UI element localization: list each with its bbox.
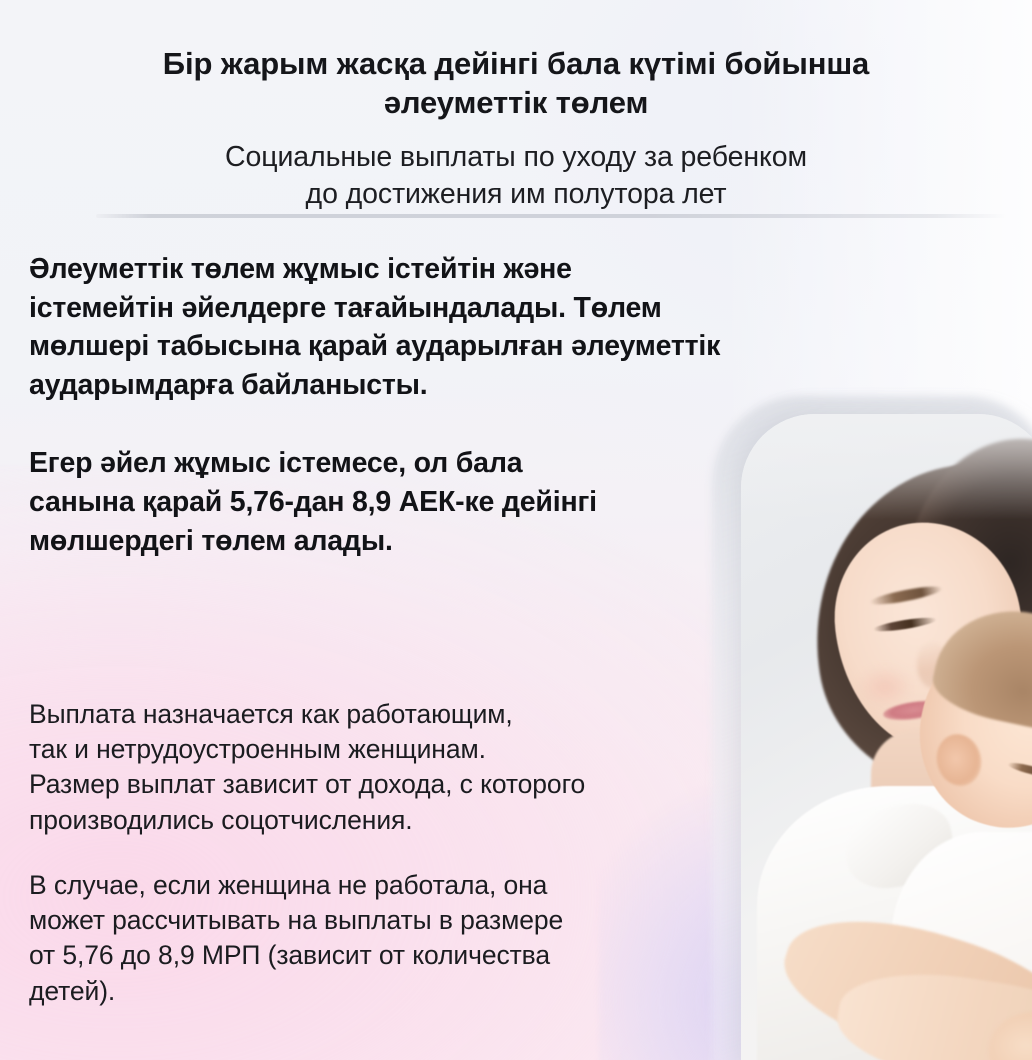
kk-p2-line-2: санына қарай 5,76-дан 8,9 АЕК-ке дейінгі <box>29 483 909 522</box>
ru-p1-line-3: Размер выплат зависит от дохода, с котор… <box>29 767 749 802</box>
page-title-ru-line-2: до достижения им полутора лет <box>96 176 936 213</box>
body-text-kk: Әлеуметтік төлем жұмыс істейтін және іст… <box>29 250 909 560</box>
page-title-kk: Бір жарым жасқа дейінгі бала күтімі бойы… <box>96 44 936 123</box>
page-title-kk-line-1: Бір жарым жасқа дейінгі бала күтімі бойы… <box>96 44 936 83</box>
kk-paragraph-2: Егер әйел жұмыс істемесе, ол бала санына… <box>29 444 909 560</box>
kk-p1-line-1: Әлеуметтік төлем жұмыс істейтін және <box>29 250 909 289</box>
ru-p2-line-3: от 5,76 до 8,9 МРП (зависит от количеств… <box>29 938 749 973</box>
poster-header: Бір жарым жасқа дейінгі бала күтімі бойы… <box>96 44 936 213</box>
ru-p2-line-2: может рассчитывать на выплаты в размере <box>29 903 749 938</box>
page-title-ru: Социальные выплаты по уходу за ребенком … <box>96 139 936 213</box>
body-text-ru: Выплата назначается как работающим, так … <box>29 697 749 1009</box>
ru-p1-line-2: так и нетрудоустроенным женщинам. <box>29 732 749 767</box>
page-title-kk-line-2: әлеуметтік төлем <box>96 83 936 122</box>
kk-p2-line-3: мөлшердегі төлем алады. <box>29 522 909 561</box>
ru-paragraph-2: В случае, если женщина не работала, она … <box>29 868 749 1009</box>
ru-p1-line-4: производились соцотчисления. <box>29 803 749 838</box>
ru-p2-line-1: В случае, если женщина не работала, она <box>29 868 749 903</box>
kk-p1-line-4: аударымдарға байланысты. <box>29 366 909 405</box>
ru-paragraph-1: Выплата назначается как работающим, так … <box>29 697 749 838</box>
kk-p2-line-1: Егер әйел жұмыс істемесе, ол бала <box>29 444 909 483</box>
kk-paragraph-1: Әлеуметтік төлем жұмыс істейтін және іст… <box>29 250 909 404</box>
ru-p2-line-4: детей). <box>29 974 749 1009</box>
poster-root: Бір жарым жасқа дейінгі бала күтімі бойы… <box>0 0 1032 1060</box>
header-divider <box>96 214 1006 218</box>
ru-p1-line-1: Выплата назначается как работающим, <box>29 697 749 732</box>
kk-p1-line-3: мөлшері табысына қарай аударылған әлеуме… <box>29 327 909 366</box>
page-title-ru-line-1: Социальные выплаты по уходу за ребенком <box>96 139 936 176</box>
kk-p1-line-2: істемейтін әйелдерге тағайындалады. Төле… <box>29 289 909 328</box>
